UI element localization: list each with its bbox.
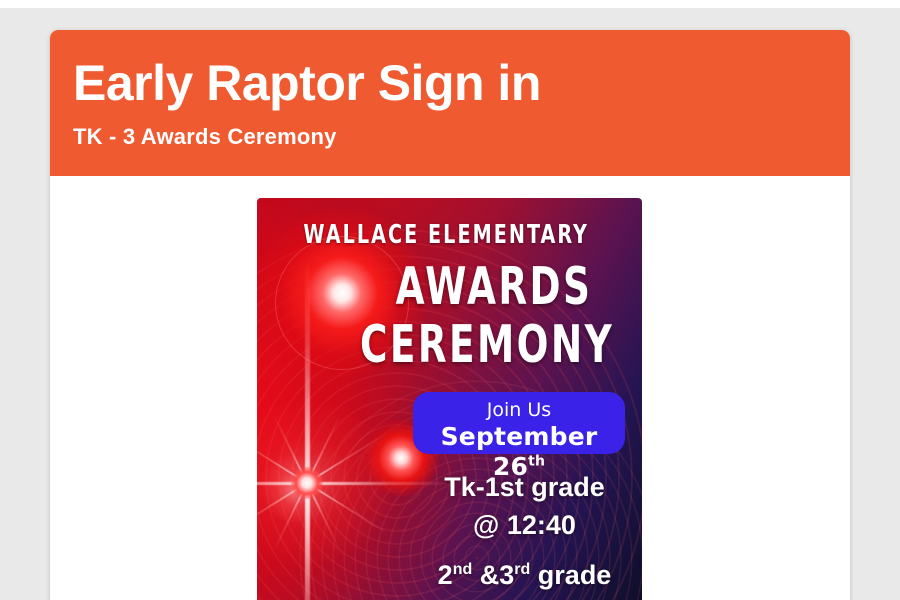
poster-text-layer: WALLACE ELEMENTARY AWARDS CEREMONY Join … — [257, 198, 642, 600]
session-two-separator: & — [480, 560, 500, 590]
join-us-label: Join Us — [413, 398, 625, 422]
session-one-details: Tk-1st grade @ 12:40 — [407, 468, 642, 544]
page-root: Early Raptor Sign in TK - 3 Awards Cerem… — [0, 0, 900, 600]
session-two-grade-a: 2 — [438, 560, 453, 590]
form-body: WALLACE ELEMENTARY AWARDS CEREMONY Join … — [50, 176, 850, 600]
session-one-grades: Tk-1st grade — [407, 468, 642, 506]
session-two-details: 2nd &3rd grade — [407, 556, 642, 594]
content-card: Early Raptor Sign in TK - 3 Awards Cerem… — [50, 30, 850, 600]
session-one-time: @ 12:40 — [407, 506, 642, 544]
poster-school-name: WALLACE ELEMENTARY — [292, 220, 608, 250]
page-title: Early Raptor Sign in — [73, 52, 850, 114]
session-two-grade-b: 3 — [499, 560, 514, 590]
page-subtitle: TK - 3 Awards Ceremony — [73, 122, 850, 152]
event-poster-image: WALLACE ELEMENTARY AWARDS CEREMONY Join … — [257, 198, 642, 600]
poster-event-title-line1: AWARDS — [378, 258, 610, 316]
poster-event-title-line2: CEREMONY — [360, 316, 608, 374]
poster-canvas: WALLACE ELEMENTARY AWARDS CEREMONY Join … — [257, 198, 642, 600]
session-two-grade-a-suffix: nd — [453, 561, 473, 578]
session-two-grade-label: grade — [538, 560, 612, 590]
poster-join-us-badge: Join Us September 26th — [413, 392, 625, 454]
session-two-grade-b-suffix: rd — [514, 561, 530, 578]
form-header-banner: Early Raptor Sign in TK - 3 Awards Cerem… — [50, 30, 850, 176]
